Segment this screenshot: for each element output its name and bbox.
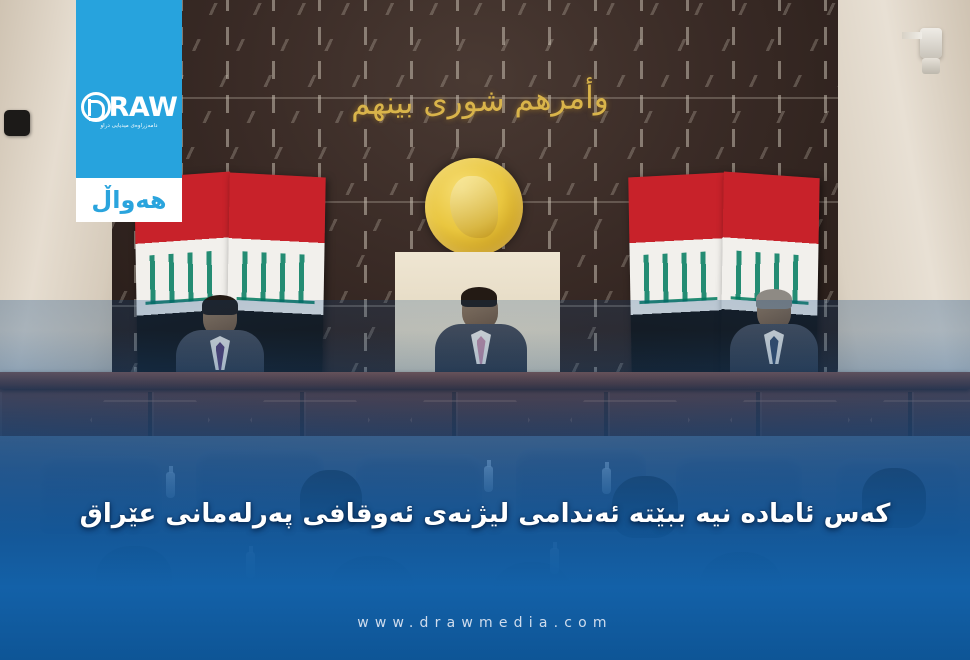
wall-speaker-fixture [4, 110, 30, 136]
wall-calligraphy: وأمرهم شورى بينهم [330, 54, 630, 148]
brand-badge-panel: RAW دامەزراوەی میدیایی دراو [76, 0, 182, 178]
wall-camera-icon [920, 28, 942, 58]
draw-logo-tagline: دامەزراوەی میدیایی دراو [76, 123, 182, 129]
category-badge[interactable]: هەواڵ [76, 178, 182, 222]
category-label: هەواڵ [91, 188, 166, 212]
draw-d-monogram-icon [81, 92, 111, 122]
dais-top-rail [0, 372, 970, 389]
iraq-flag [628, 172, 727, 382]
website-url[interactable]: www.drawmedia.com [0, 615, 970, 631]
draw-logo: RAW دامەزراوەی میدیایی دراو [76, 92, 182, 148]
draw-wordmark: RAW [109, 94, 178, 121]
headline: کەس ئاماده نیه ببێته ئەندامی لیژنەی ئەوق… [40, 497, 930, 532]
news-card: وأمرهم شورى بينهم [0, 0, 970, 660]
brand-badge[interactable]: RAW دامەزراوەی میدیایی دراو هەواڵ [76, 0, 182, 222]
